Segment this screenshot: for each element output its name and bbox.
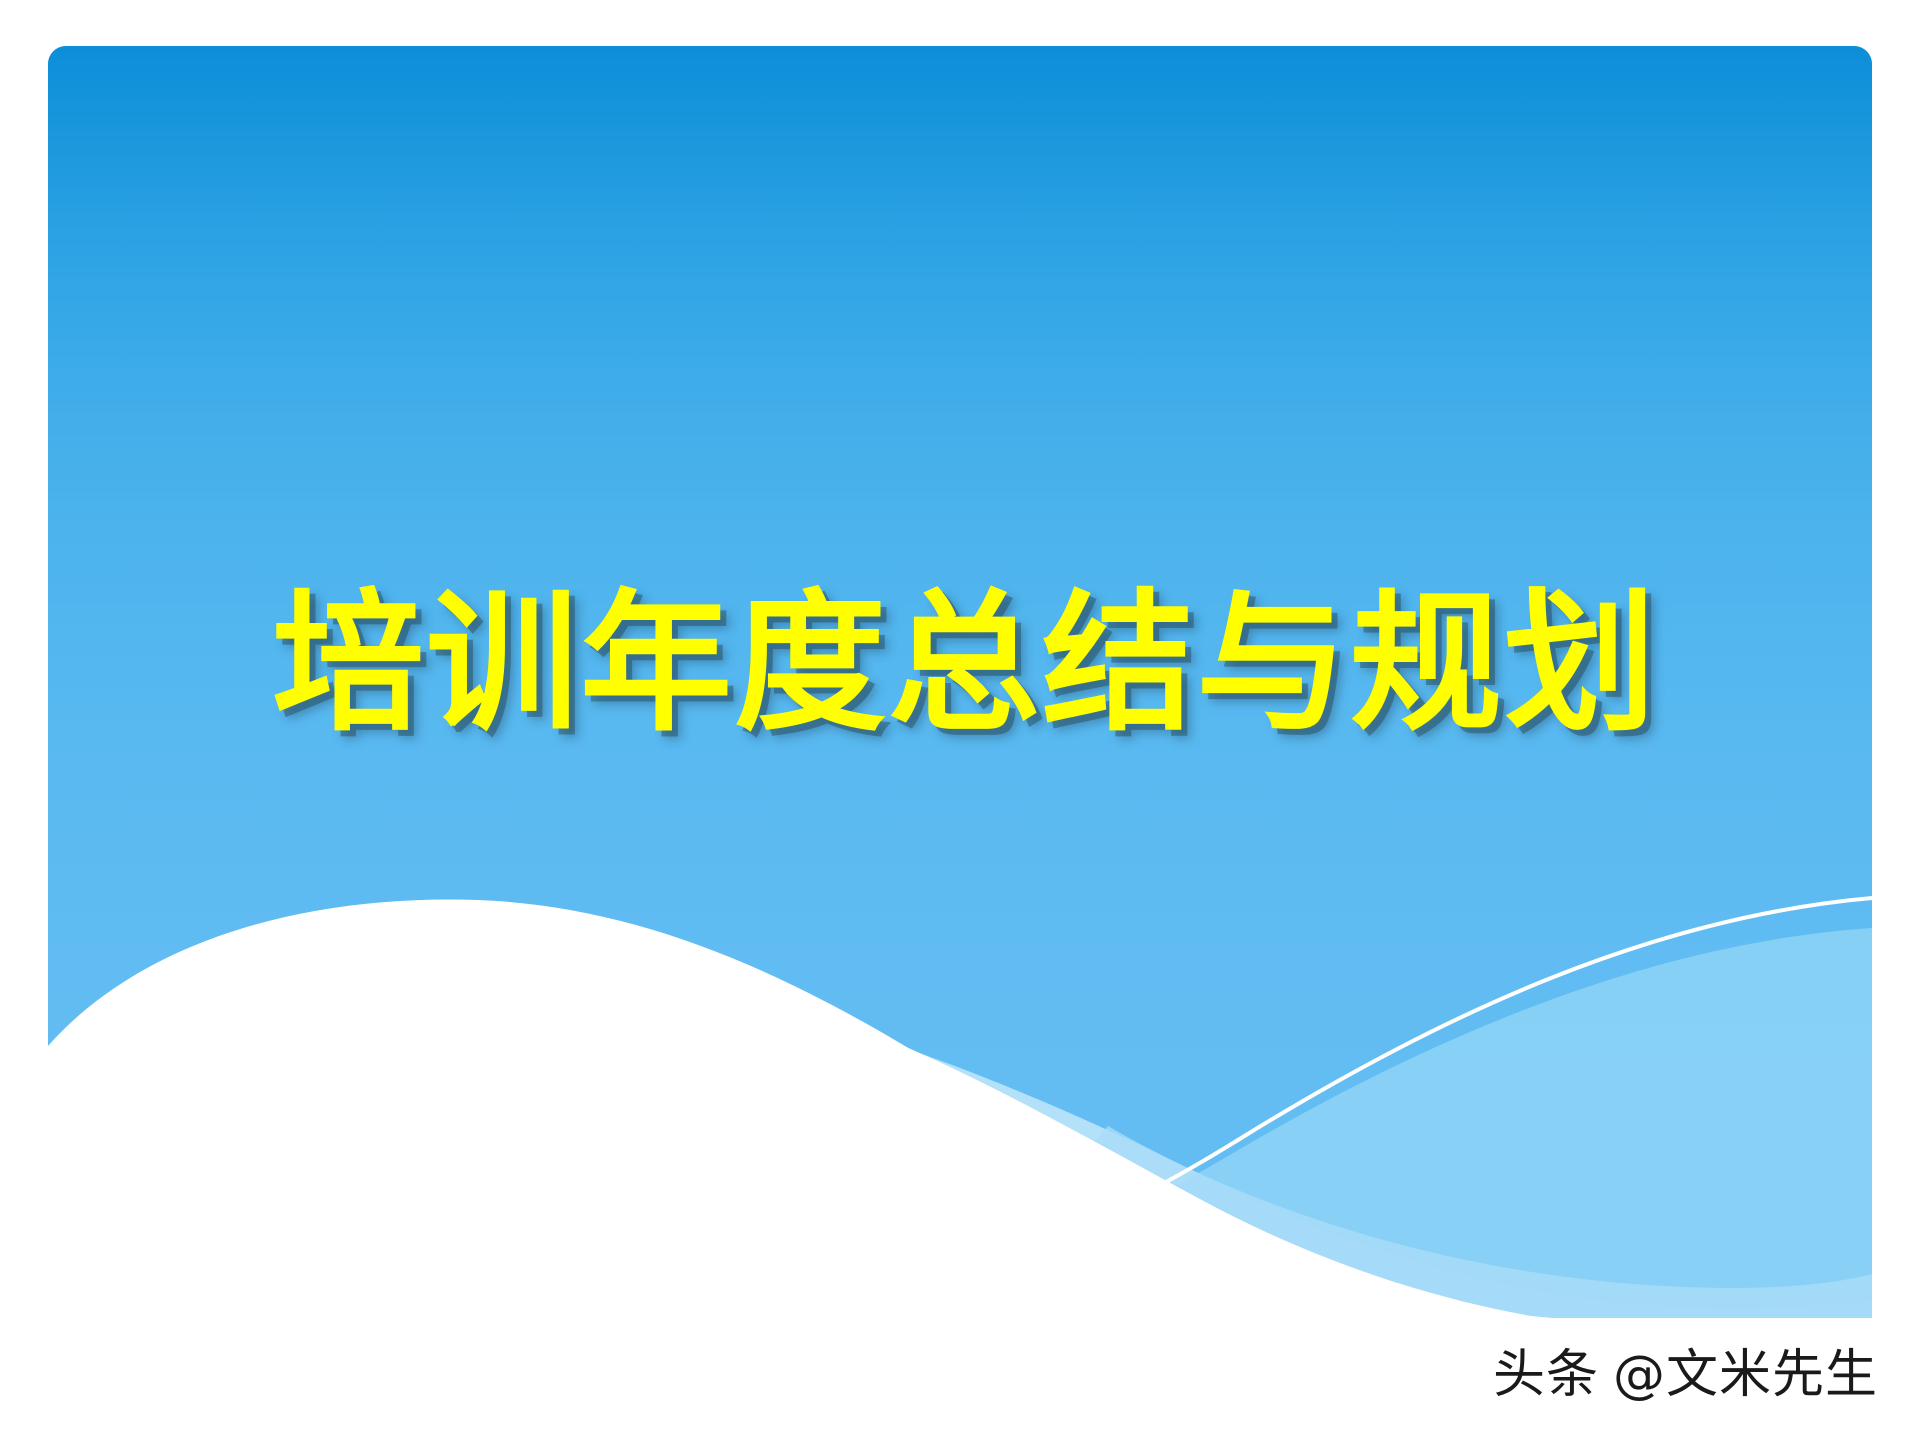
watermark: 头条 @文米先生 <box>1493 1332 1878 1407</box>
watermark-source: 头条 <box>1493 1332 1599 1407</box>
watermark-handle: @文米先生 <box>1613 1332 1878 1407</box>
title-area: 培训年度总结与规划 <box>48 46 1872 1318</box>
slide-title: 培训年度总结与规划 <box>262 588 1658 740</box>
presentation-slide: 培训年度总结与规划 <box>48 46 1872 1318</box>
screenshot-canvas: 培训年度总结与规划 头条 @文米先生 <box>0 0 1920 1440</box>
